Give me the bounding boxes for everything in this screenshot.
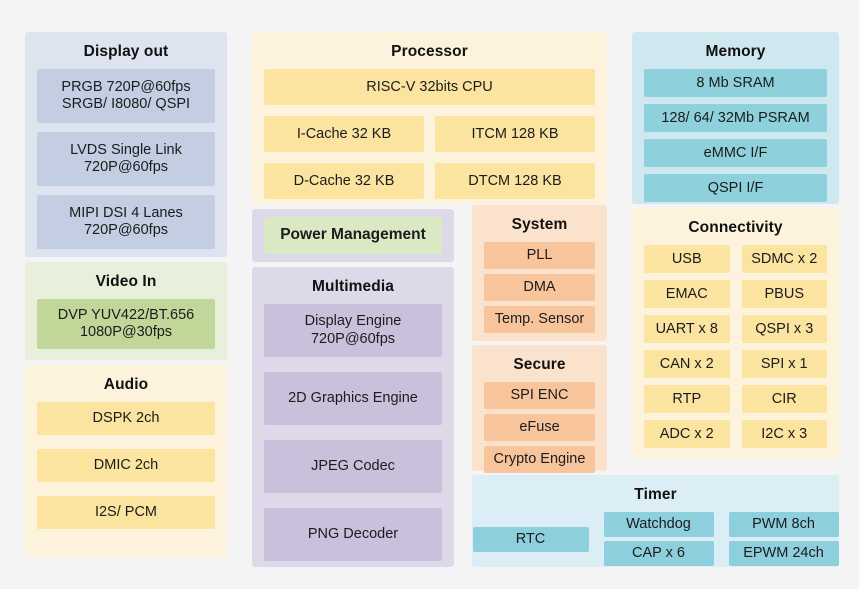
block-grid-connectivity: USB SDMC x 2 EMAC PBUS UART x 8 QSPI x 3… — [644, 245, 827, 448]
block-mipi-dsi: MIPI DSI 4 Lanes 720P@60fps — [37, 195, 215, 249]
soc-block-diagram: Display out PRGB 720P@60fps SRGB/ I8080/… — [0, 0, 859, 589]
block-2d-graphics-engine: 2D Graphics Engine — [264, 372, 442, 425]
block-display-engine: Display Engine 720P@60fps — [264, 304, 442, 357]
panel-memory: Memory 8 Mb SRAM 128/ 64/ 32Mb PSRAM eMM… — [632, 32, 839, 204]
block-power-management: Power Management — [264, 217, 442, 254]
block-dvp: DVP YUV422/BT.656 1080P@30fps — [37, 299, 215, 349]
timer-col-rtc: RTC — [473, 512, 589, 566]
block-pbus: PBUS — [742, 280, 828, 308]
block-sram: 8 Mb SRAM — [644, 69, 827, 97]
block-spi: SPI x 1 — [742, 350, 828, 378]
block-rtp: RTP — [644, 385, 730, 413]
block-list-processor: RISC-V 32bits CPU I-Cache 32 KB ITCM 128… — [264, 69, 595, 199]
block-epwm: EPWM 24ch — [729, 541, 839, 566]
panel-title-processor: Processor — [264, 42, 595, 61]
panel-system: System PLL DMA Temp. Sensor — [472, 205, 607, 341]
block-list-video-in: DVP YUV422/BT.656 1080P@30fps — [37, 299, 215, 349]
block-dmic: DMIC 2ch — [37, 449, 215, 482]
block-cap: CAP x 6 — [604, 541, 714, 566]
block-usb: USB — [644, 245, 730, 273]
panel-title-multimedia: Multimedia — [264, 277, 442, 296]
block-rtc: RTC — [473, 527, 589, 552]
block-qspi: QSPI x 3 — [742, 315, 828, 343]
block-watchdog: Watchdog — [604, 512, 714, 537]
block-riscv-cpu: RISC-V 32bits CPU — [264, 69, 595, 105]
block-crypto-engine: Crypto Engine — [484, 446, 595, 473]
block-emmc-if: eMMC I/F — [644, 139, 827, 167]
block-list-secure: SPI ENC eFuse Crypto Engine — [484, 382, 595, 473]
block-qspi-if: QSPI I/F — [644, 174, 827, 202]
block-psram: 128/ 64/ 32Mb PSRAM — [644, 104, 827, 132]
block-list-memory: 8 Mb SRAM 128/ 64/ 32Mb PSRAM eMMC I/F Q… — [644, 69, 827, 202]
panel-title-display-out: Display out — [37, 42, 215, 61]
block-itcm: ITCM 128 KB — [435, 116, 595, 152]
block-prgb: PRGB 720P@60fps SRGB/ I8080/ QSPI — [37, 69, 215, 123]
block-pwm: PWM 8ch — [729, 512, 839, 537]
panel-power-management: Power Management — [252, 209, 454, 262]
panel-title-timer: Timer — [484, 485, 827, 504]
block-list-multimedia: Display Engine 720P@60fps 2D Graphics En… — [264, 304, 442, 561]
timer-col-pwm: PWM 8ch EPWM 24ch — [729, 512, 839, 566]
panel-title-video-in: Video In — [37, 272, 215, 291]
block-lvds: LVDS Single Link 720P@60fps — [37, 132, 215, 186]
panel-timer: Timer RTC Watchdog CAP x 6 PWM 8ch EPWM … — [472, 475, 839, 567]
block-grid-processor: I-Cache 32 KB ITCM 128 KB D-Cache 32 KB … — [264, 116, 595, 199]
block-grid-timer: RTC Watchdog CAP x 6 PWM 8ch EPWM 24ch — [484, 512, 827, 566]
block-dspk: DSPK 2ch — [37, 402, 215, 435]
block-i2s-pcm: I2S/ PCM — [37, 496, 215, 529]
block-cir: CIR — [742, 385, 828, 413]
block-adc: ADC x 2 — [644, 420, 730, 448]
panel-title-system: System — [484, 215, 595, 234]
panel-secure: Secure SPI ENC eFuse Crypto Engine — [472, 345, 607, 471]
block-uart: UART x 8 — [644, 315, 730, 343]
block-efuse: eFuse — [484, 414, 595, 441]
block-dma: DMA — [484, 274, 595, 301]
panel-title-secure: Secure — [484, 355, 595, 374]
block-sdmc: SDMC x 2 — [742, 245, 828, 273]
block-list-display-out: PRGB 720P@60fps SRGB/ I8080/ QSPI LVDS S… — [37, 69, 215, 249]
panel-audio: Audio DSPK 2ch DMIC 2ch I2S/ PCM — [25, 365, 227, 557]
block-list-system: PLL DMA Temp. Sensor — [484, 242, 595, 333]
block-can: CAN x 2 — [644, 350, 730, 378]
block-list-audio: DSPK 2ch DMIC 2ch I2S/ PCM — [37, 402, 215, 529]
timer-col-watchdog: Watchdog CAP x 6 — [604, 512, 714, 566]
block-dtcm: DTCM 128 KB — [435, 163, 595, 199]
panel-multimedia: Multimedia Display Engine 720P@60fps 2D … — [252, 267, 454, 567]
panel-processor: Processor RISC-V 32bits CPU I-Cache 32 K… — [252, 32, 607, 204]
block-i2c: I2C x 3 — [742, 420, 828, 448]
panel-title-connectivity: Connectivity — [644, 218, 827, 237]
panel-display-out: Display out PRGB 720P@60fps SRGB/ I8080/… — [25, 32, 227, 257]
block-png-decoder: PNG Decoder — [264, 508, 442, 561]
block-list-power-management: Power Management — [264, 217, 442, 254]
panel-title-audio: Audio — [37, 375, 215, 394]
block-emac: EMAC — [644, 280, 730, 308]
panel-title-memory: Memory — [644, 42, 827, 61]
panel-video-in: Video In DVP YUV422/BT.656 1080P@30fps — [25, 262, 227, 360]
block-jpeg-codec: JPEG Codec — [264, 440, 442, 493]
block-spi-enc: SPI ENC — [484, 382, 595, 409]
block-icache: I-Cache 32 KB — [264, 116, 424, 152]
block-temp-sensor: Temp. Sensor — [484, 306, 595, 333]
block-dcache: D-Cache 32 KB — [264, 163, 424, 199]
block-pll: PLL — [484, 242, 595, 269]
panel-connectivity: Connectivity USB SDMC x 2 EMAC PBUS UART… — [632, 208, 839, 458]
